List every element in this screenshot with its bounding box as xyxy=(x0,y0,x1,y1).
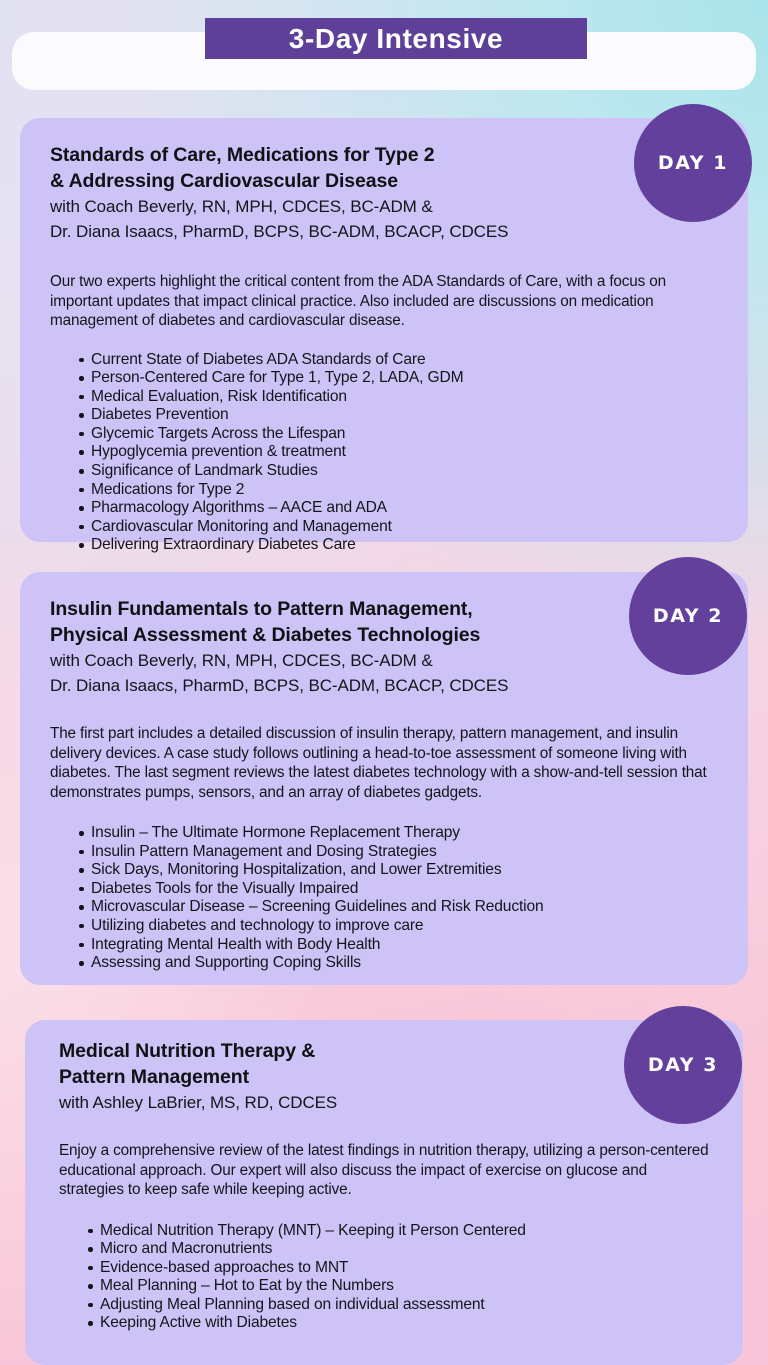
day-1-description: Our two experts highlight the critical c… xyxy=(50,272,718,331)
day-3-badge: DAY 3 xyxy=(624,1006,742,1124)
day-3-presenter: with Ashley LaBrier, MS, RD, CDCES xyxy=(59,1090,713,1115)
page-title: 3-Day Intensive xyxy=(289,25,503,53)
day-2-presenter: with Coach Beverly, RN, MPH, CDCES, BC-A… xyxy=(50,648,718,698)
day-2-presenter-line-2: Dr. Diana Isaacs, PharmD, BCPS, BC-ADM, … xyxy=(50,673,718,698)
list-item: Evidence-based approaches to MNT xyxy=(88,1259,713,1278)
day-1-badge-label: DAY 1 xyxy=(658,154,728,173)
day-2-badge: DAY 2 xyxy=(629,557,747,675)
list-item: Hypoglycemia prevention & treatment xyxy=(79,443,718,462)
day-1-presenter-line-2: Dr. Diana Isaacs, PharmD, BCPS, BC-ADM, … xyxy=(50,219,718,244)
list-item: Glycemic Targets Across the Lifespan xyxy=(79,425,718,444)
list-item: Insulin Pattern Management and Dosing St… xyxy=(79,843,718,862)
day-2-presenter-line-1: with Coach Beverly, RN, MPH, CDCES, BC-A… xyxy=(50,648,718,673)
list-item: Significance of Landmark Studies xyxy=(79,462,718,481)
day-2-topic-list: Insulin – The Ultimate Hormone Replaceme… xyxy=(50,824,718,973)
header: 3-Day Intensive xyxy=(0,0,768,118)
list-item: Integrating Mental Health with Body Heal… xyxy=(79,936,718,955)
list-item: Person-Centered Care for Type 1, Type 2,… xyxy=(79,369,718,388)
list-item: Keeping Active with Diabetes xyxy=(88,1314,713,1333)
day-3-topic-list: Medical Nutrition Therapy (MNT) – Keepin… xyxy=(59,1222,713,1334)
list-item: Meal Planning – Hot to Eat by the Number… xyxy=(88,1277,713,1296)
day-2-title-line-1: Insulin Fundamentals to Pattern Manageme… xyxy=(50,596,630,622)
list-item: Diabetes Tools for the Visually Impaired xyxy=(79,880,718,899)
list-item: Insulin – The Ultimate Hormone Replaceme… xyxy=(79,824,718,843)
list-item: Cardiovascular Monitoring and Management xyxy=(79,518,718,537)
day-3-title-line-1: Medical Nutrition Therapy & xyxy=(59,1038,639,1064)
list-item: Assessing and Supporting Coping Skills xyxy=(79,954,718,973)
day-1-presenter: with Coach Beverly, RN, MPH, CDCES, BC-A… xyxy=(50,194,718,244)
list-item: Sick Days, Monitoring Hospitalization, a… xyxy=(79,861,718,880)
day-1-title-line-2: & Addressing Cardiovascular Disease xyxy=(50,168,630,194)
day-2-title: Insulin Fundamentals to Pattern Manageme… xyxy=(50,596,630,648)
list-item: Medical Evaluation, Risk Identification xyxy=(79,388,718,407)
list-item: Microvascular Disease – Screening Guidel… xyxy=(79,898,718,917)
list-item: Delivering Extraordinary Diabetes Care xyxy=(79,536,718,555)
day-1-badge: DAY 1 xyxy=(634,104,752,222)
list-item: Diabetes Prevention xyxy=(79,406,718,425)
list-item: Current State of Diabetes ADA Standards … xyxy=(79,351,718,370)
day-3-title: Medical Nutrition Therapy & Pattern Mana… xyxy=(59,1038,639,1090)
day-3-badge-label: DAY 3 xyxy=(648,1056,718,1075)
list-item: Medical Nutrition Therapy (MNT) – Keepin… xyxy=(88,1222,713,1241)
header-banner: 3-Day Intensive xyxy=(205,18,587,59)
day-1-title: Standards of Care, Medications for Type … xyxy=(50,142,630,194)
list-item: Adjusting Meal Planning based on individ… xyxy=(88,1296,713,1315)
day-1-topic-list: Current State of Diabetes ADA Standards … xyxy=(50,351,718,556)
day-2-badge-label: DAY 2 xyxy=(653,607,723,626)
list-item: Utilizing diabetes and technology to imp… xyxy=(79,917,718,936)
day-1-title-line-1: Standards of Care, Medications for Type … xyxy=(50,142,630,168)
list-item: Pharmacology Algorithms – AACE and ADA xyxy=(79,499,718,518)
day-3-title-line-2: Pattern Management xyxy=(59,1064,639,1090)
day-3-presenter-line-1: with Ashley LaBrier, MS, RD, CDCES xyxy=(59,1090,713,1115)
flyer-page: 3-Day Intensive Standards of Care, Medic… xyxy=(0,0,768,1365)
day-2-title-line-2: Physical Assessment & Diabetes Technolog… xyxy=(50,622,630,648)
day-3-description: Enjoy a comprehensive review of the late… xyxy=(59,1141,713,1200)
day-2-description: The first part includes a detailed discu… xyxy=(50,724,718,802)
list-item: Micro and Macronutrients xyxy=(88,1240,713,1259)
day-1-presenter-line-1: with Coach Beverly, RN, MPH, CDCES, BC-A… xyxy=(50,194,718,219)
list-item: Medications for Type 2 xyxy=(79,481,718,500)
